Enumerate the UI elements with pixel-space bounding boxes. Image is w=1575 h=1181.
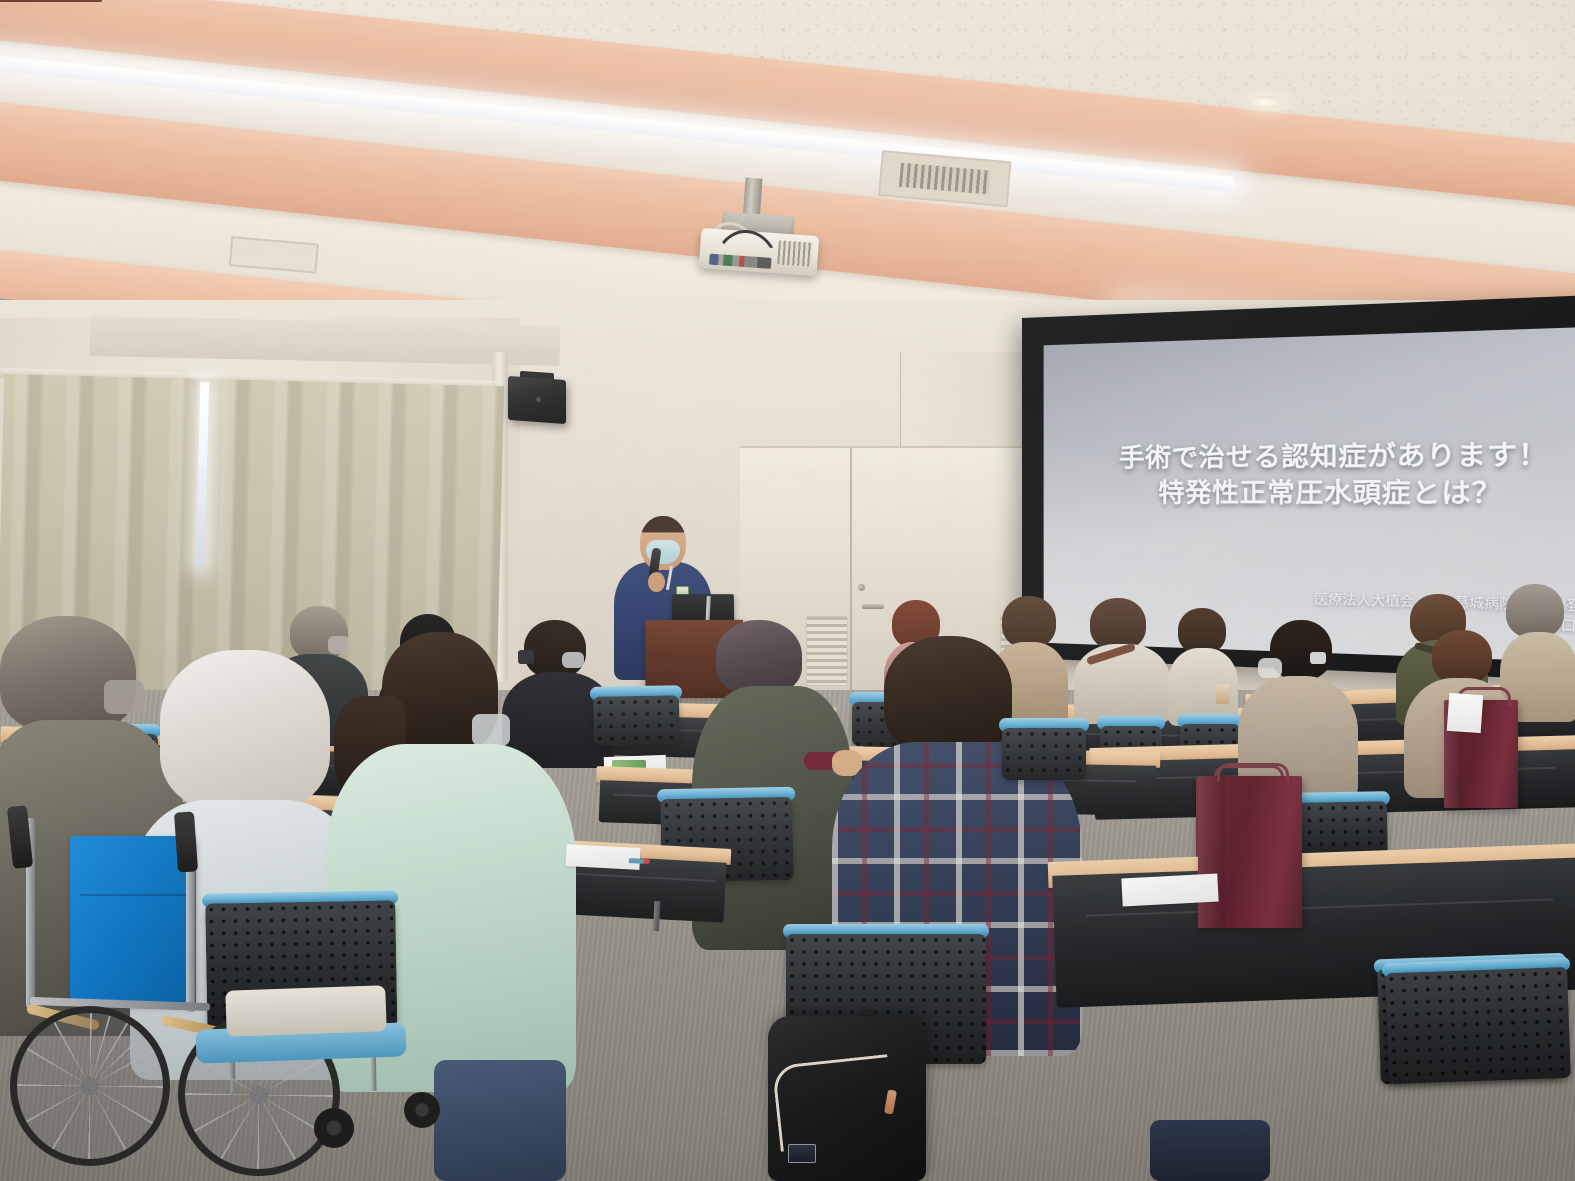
handout (1447, 693, 1484, 733)
presenter-hand (648, 572, 665, 592)
downlight-icon (1246, 96, 1286, 109)
wheelchair-handle[interactable] (174, 811, 198, 872)
caster-wheel (314, 1108, 354, 1148)
cup-icon (1216, 684, 1230, 704)
chair[interactable] (1002, 718, 1086, 788)
chair[interactable] (593, 685, 680, 752)
audience-member-legs (1150, 1120, 1270, 1181)
hair-clip-icon (1310, 652, 1326, 664)
door-lock-icon[interactable] (858, 584, 865, 591)
jeans (434, 1060, 566, 1181)
backpack-logo-tag (788, 1144, 816, 1163)
seminar-room-photograph: 手術で治せる認知症があります！ 特発性正常圧水頭症とは？ 医療法人大植会 葛城病… (0, 0, 1575, 1181)
seat-cushion (225, 985, 387, 1037)
wheelchair-wheel (10, 1006, 170, 1166)
caster-wheel (404, 1092, 440, 1128)
backpack (768, 1016, 926, 1181)
chair[interactable] (1385, 957, 1572, 1113)
backpack-zipper (772, 1054, 896, 1152)
wall-speaker-icon (508, 376, 566, 424)
face-mask-icon (472, 714, 510, 746)
handout (1121, 874, 1218, 907)
podium-top (0, 0, 102, 2)
door-handle-icon[interactable] (862, 604, 884, 609)
audience-member (1168, 608, 1238, 726)
gift-bag (1198, 776, 1302, 928)
slide-title-line2: 特発性正常圧水頭症とは？ (1044, 474, 1575, 512)
slide-title-line1: 手術で治せる認知症があります！ (1044, 435, 1575, 475)
laptop-icon (672, 594, 734, 622)
audience-member (1074, 598, 1170, 724)
face-mask-icon (1258, 658, 1282, 678)
projector-vent (777, 240, 813, 266)
slide-title: 手術で治せる認知症があります！ 特発性正常圧水頭症とは？ (1044, 435, 1575, 512)
